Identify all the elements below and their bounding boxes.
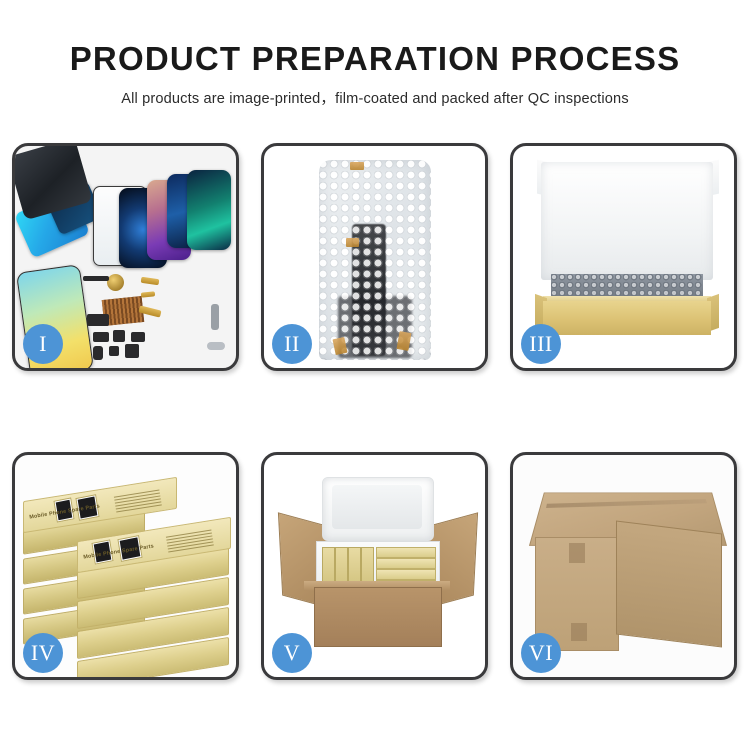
speaker-coil-icon — [107, 274, 124, 291]
spare-part-icon — [113, 330, 125, 342]
tweezers-icon — [207, 342, 225, 350]
packed-retail-box — [376, 547, 436, 558]
process-step-panel-4: Mobile Phone Spare Parts Mobile Phone Sp… — [12, 452, 239, 680]
process-steps-grid: I II III — [12, 143, 740, 680]
spare-part-icon — [93, 346, 103, 360]
process-step-panel-3: III — [510, 143, 737, 371]
carton-right-face — [616, 520, 722, 647]
process-step-panel-6: VI — [510, 452, 737, 680]
spare-part-icon — [93, 332, 109, 342]
flex-cable-icon — [141, 277, 160, 285]
step-badge-1: I — [23, 324, 63, 364]
kraft-box-tray-icon — [543, 301, 711, 335]
step-badge-6: VI — [521, 633, 561, 673]
process-step-panel-1: I — [12, 143, 239, 371]
step-badge-2: II — [272, 324, 312, 364]
carton-flap-tab — [571, 623, 587, 641]
process-step-panel-2: II — [261, 143, 488, 371]
white-box-lid-icon — [541, 162, 713, 280]
step-badge-5: V — [272, 633, 312, 673]
spare-part-icon — [125, 344, 139, 358]
tape-piece-icon — [350, 162, 364, 170]
step-badge-3: III — [521, 324, 561, 364]
phone-screen-teal-icon — [187, 170, 231, 250]
step-badge-4: IV — [23, 633, 63, 673]
process-step-panel-5: V — [261, 452, 488, 680]
screwdriver-icon — [211, 304, 219, 330]
flex-cable-icon — [141, 291, 155, 297]
page-title: PRODUCT PREPARATION PROCESS — [0, 42, 750, 77]
spare-part-icon — [109, 346, 119, 356]
carton-flap-tab — [569, 543, 585, 563]
spare-part-icon — [83, 276, 109, 281]
page-subtitle: All products are image-printed，film-coat… — [0, 87, 750, 108]
tape-piece-icon — [346, 238, 359, 247]
packed-retail-box — [376, 569, 436, 580]
foam-lid-inner — [332, 485, 422, 529]
bubble-texture-overlay — [319, 160, 431, 360]
spare-part-icon — [87, 314, 109, 326]
carton-front-face — [314, 587, 442, 647]
packed-retail-box — [376, 558, 436, 569]
page-header: PRODUCT PREPARATION PROCESS All products… — [0, 0, 750, 108]
spare-part-icon — [131, 332, 145, 342]
